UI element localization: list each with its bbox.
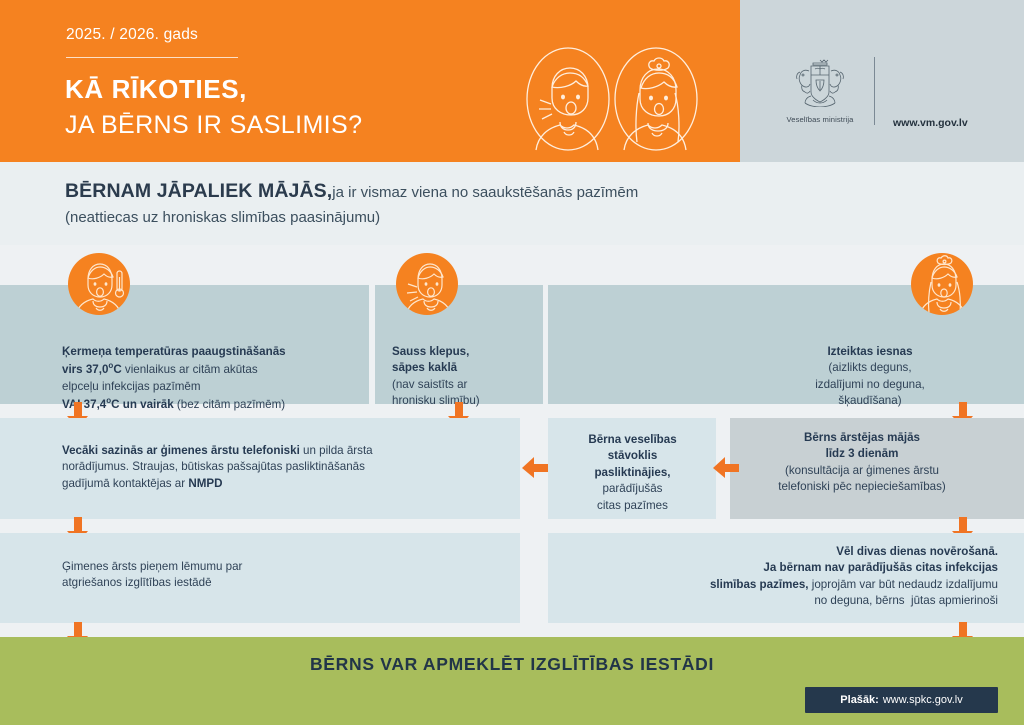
page-title-line2: JA BĒRNS IR SASLIMIS? (65, 111, 362, 140)
child-with-runny-nose-icon (911, 253, 973, 315)
more-info-badge[interactable]: Plašāk: www.spkc.gov.lv (805, 687, 998, 713)
outcome-text-doctor-decision: Ģimenes ārsts pieņem lēmumu par atgrieša… (62, 559, 462, 592)
action-text-condition-worsened: Bērna veselības stāvoklis pasliktinājies… (555, 432, 710, 514)
latvia-coat-of-arms: Veselības ministrija (770, 55, 870, 124)
action-text-contact-doctor: Vecāki sazinās ar ģimenes ārstu telefoni… (62, 443, 512, 492)
footer-conclusion-title: BĒRNS VAR APMEKLĒT IZGLĪTĪBAS IESTĀDI (0, 654, 1024, 675)
two-sick-children-portraits-icon (522, 44, 702, 154)
header-divider-rule (66, 57, 238, 58)
infographic-page: 2025. / 2026. gads KĀ RĪKOTIES, JA BĒRNS… (0, 0, 1024, 725)
action-text-home-treatment: Bērns ārstējas mājās līdz 3 dienām (kons… (738, 430, 986, 496)
subtitle-line1: BĒRNAM JĀPALIEK MĀJĀS,ja ir vismaz viena… (65, 180, 638, 203)
symptom-text-temperature: Ķermeņa temperatūras paaugstināšanās vir… (62, 344, 362, 414)
more-info-url[interactable]: www.spkc.gov.lv (883, 694, 963, 706)
ministry-website-link[interactable]: www.vm.gov.lv (893, 117, 968, 129)
ministry-caption: Veselības ministrija (770, 115, 870, 124)
child-with-thermometer-icon (68, 253, 130, 315)
subtitle-bold: BĒRNAM JĀPALIEK MĀJĀS, (65, 180, 332, 202)
arrow-left-icon (713, 457, 739, 479)
more-info-label: Plašāk: (840, 694, 879, 706)
subtitle-band (0, 162, 1024, 245)
symptom-text-cough: Sauss klepus, sāpes kaklā (nav saistīts … (392, 344, 537, 410)
symptom-text-runny-nose: Izteiktas iesnas (aizlikts deguns, izdal… (755, 344, 985, 410)
child-coughing-icon (396, 253, 458, 315)
school-year-label: 2025. / 2026. gads (66, 26, 198, 44)
arrow-left-icon (522, 457, 548, 479)
logo-vertical-divider (874, 57, 875, 125)
page-title-line1: KĀ RĪKOTIES, (65, 74, 247, 105)
outcome-text-two-more-days: Vēl divas dienas novērošanā. Ja bērnam n… (560, 544, 998, 610)
subtitle-normal: ja ir vismaz viena no saaukstēšanās pazī… (332, 184, 638, 201)
subtitle-line2: (neattiecas uz hroniskas slimības paasin… (65, 209, 380, 226)
